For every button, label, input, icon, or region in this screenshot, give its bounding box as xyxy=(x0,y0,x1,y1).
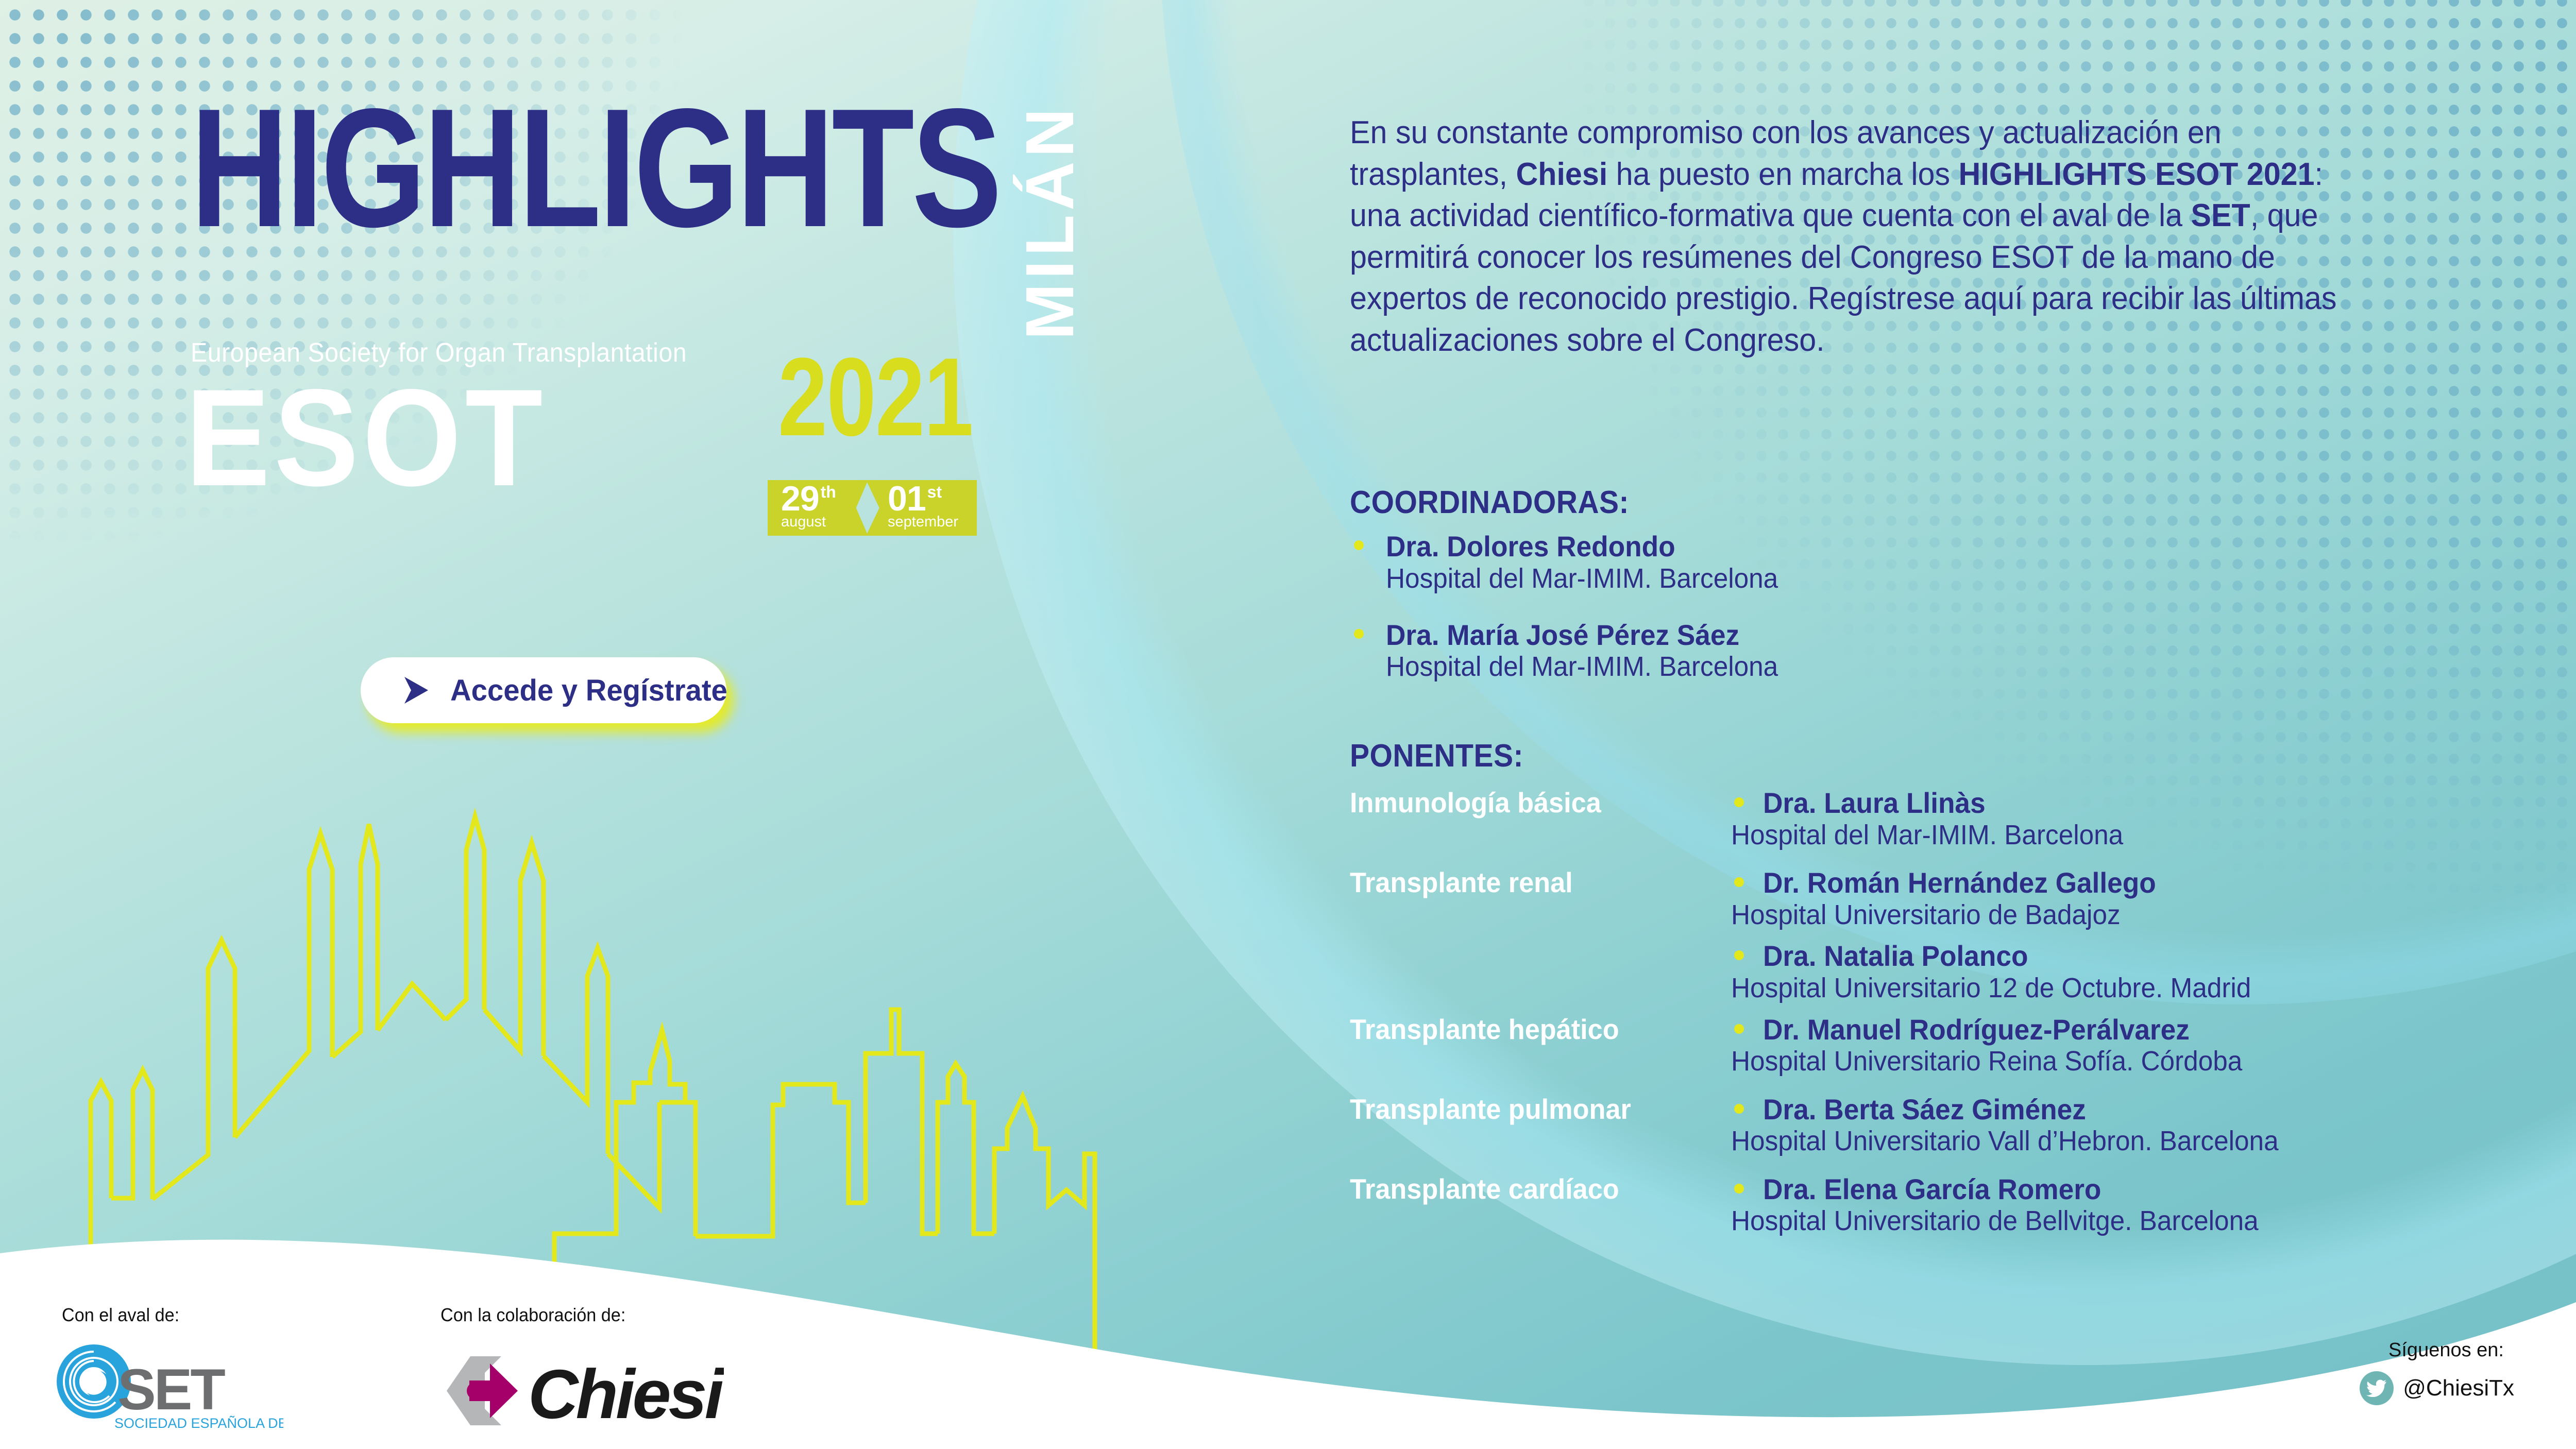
intro-segment-1: Chiesi xyxy=(1516,157,1608,192)
speaker-name: Dra. Elena García Romero xyxy=(1763,1173,2511,1206)
collaboration-label: Con la colaboración de: xyxy=(440,1304,625,1326)
speaker-topic: Inmunología básica xyxy=(1350,787,1712,819)
twitter-bird-icon xyxy=(2360,1371,2394,1405)
follow-label: Síguenos en: xyxy=(2388,1339,2504,1361)
speaker-row: Transplante hepáticoDr. Manuel Rodríguez… xyxy=(1350,1014,2550,1094)
speaker-name: Dra. Natalia Polanco xyxy=(1763,940,2511,973)
start-month: august xyxy=(781,515,848,530)
speaker-topic: Transplante cardíaco xyxy=(1350,1173,1712,1205)
intro-segment-2: ha puesto en marcha los xyxy=(1607,157,1958,192)
poster-canvas: HIGHLIGHTS European Society for Organ Tr… xyxy=(0,0,2576,1449)
set-logo: SET SOCIEDAD ESPAÑOLA DE TRASPLANTE xyxy=(52,1344,283,1435)
intro-segment-5: SET xyxy=(2191,198,2250,233)
event-year: 2021 xyxy=(778,341,973,452)
register-button-label: Accede y Regístrate xyxy=(450,673,727,708)
start-day: 29 xyxy=(781,484,819,514)
speaker-row: Inmunología básicaDra. Laura LlinàsHospi… xyxy=(1350,787,2550,867)
speaker-people: Dra. Berta Sáez GiménezHospital Universi… xyxy=(1731,1094,2550,1157)
speaker-org: Hospital Universitario de Badajoz xyxy=(1731,899,2510,931)
event-date-range: 29 th august 01 st september xyxy=(768,480,977,536)
bullet-dot-icon xyxy=(1734,877,1744,887)
speaker-people: Dr. Román Hernández GallegoHospital Univ… xyxy=(1731,867,2550,1004)
event-city: MILÁN xyxy=(1011,104,1089,340)
esot-acronym: ESOT xyxy=(185,381,547,495)
bullet-dot-icon xyxy=(1734,797,1744,807)
end-day: 01 xyxy=(888,484,926,514)
speaker-name: Dra. Laura Llinàs xyxy=(1763,787,2511,820)
speaker-row: Transplante renalDr. Román Hernández Gal… xyxy=(1350,867,2550,1004)
speaker-person: Dra. Natalia PolancoHospital Universitar… xyxy=(1731,940,2550,1004)
speaker-person: Dr. Manuel Rodríguez-PerálvarezHospital … xyxy=(1731,1014,2550,1078)
speaker-org: Hospital del Mar-IMIM. Barcelona xyxy=(1731,820,2510,851)
set-wordmark: SET xyxy=(117,1357,225,1422)
speaker-person: Dra. Elena García RomeroHospital Univers… xyxy=(1731,1173,2550,1237)
twitter-handle: @ChiesiTx xyxy=(2403,1375,2514,1401)
speaker-people: Dra. Elena García RomeroHospital Univers… xyxy=(1731,1173,2550,1237)
speaker-name: Dr. Román Hernández Gallego xyxy=(1763,867,2511,899)
coordinator-item: Dra. Dolores RedondoHospital del Mar-IMI… xyxy=(1350,531,2226,594)
speaker-topic: Transplante hepático xyxy=(1350,1014,1712,1045)
speakers-table: Inmunología básicaDra. Laura LlinàsHospi… xyxy=(1350,787,2550,1253)
coordinator-item: Dra. María José Pérez SáezHospital del M… xyxy=(1350,619,2226,683)
endorsement-label: Con el aval de: xyxy=(62,1304,179,1326)
speaker-person: Dra. Berta Sáez GiménezHospital Universi… xyxy=(1731,1094,2550,1157)
bullet-dot-icon xyxy=(1734,950,1744,960)
coordinator-name: Dra. María José Pérez Sáez xyxy=(1386,619,2184,651)
bullet-dot-icon xyxy=(1734,1024,1744,1034)
set-tagline: SOCIEDAD ESPAÑOLA DE TRASPLANTE xyxy=(114,1415,283,1431)
date-chip-end: 01 st september xyxy=(866,480,977,536)
intro-segment-3: HIGHLIGHTS ESOT 2021 xyxy=(1959,157,2315,192)
speaker-person: Dra. Laura LlinàsHospital del Mar-IMIM. … xyxy=(1731,787,2550,851)
bullet-dot-icon xyxy=(1354,540,1364,550)
speaker-org: Hospital Universitario Reina Sofía. Córd… xyxy=(1731,1046,2510,1078)
speaker-row: Transplante pulmonarDra. Berta Sáez Gimé… xyxy=(1350,1094,2550,1173)
speaker-people: Dr. Manuel Rodríguez-PerálvarezHospital … xyxy=(1731,1014,2550,1078)
date-chip-start: 29 th august xyxy=(768,480,868,536)
speaker-person: Dr. Román Hernández GallegoHospital Univ… xyxy=(1731,867,2550,931)
chiesi-logo: Chiesi xyxy=(435,1352,724,1429)
page-title: HIGHLIGHTS xyxy=(191,95,999,241)
bullet-dot-icon xyxy=(1354,629,1364,639)
bullet-dot-icon xyxy=(1734,1184,1744,1194)
speaker-org: Hospital Universitario Vall d’Hebron. Ba… xyxy=(1731,1126,2510,1157)
speaker-name: Dr. Manuel Rodríguez-Perálvarez xyxy=(1763,1014,2511,1046)
speaker-org: Hospital Universitario de Bellvitge. Bar… xyxy=(1731,1205,2510,1237)
chiesi-hexagon-icon xyxy=(447,1356,518,1425)
play-arrow-icon xyxy=(403,675,430,705)
coordinator-name: Dra. Dolores Redondo xyxy=(1386,531,2184,562)
speaker-name: Dra. Berta Sáez Giménez xyxy=(1763,1094,2511,1126)
end-month: september xyxy=(888,515,963,530)
coordinator-org: Hospital del Mar-IMIM. Barcelona xyxy=(1386,651,2184,683)
coordinators-list: Dra. Dolores RedondoHospital del Mar-IMI… xyxy=(1350,531,2226,707)
speakers-heading: PONENTES: xyxy=(1350,738,1523,774)
speaker-topic: Transplante renal xyxy=(1350,867,1712,898)
register-button[interactable]: Accede y Regístrate xyxy=(361,657,726,723)
speaker-org: Hospital Universitario 12 de Octubre. Ma… xyxy=(1731,973,2510,1004)
start-day-ordinal: th xyxy=(821,485,836,499)
speaker-row: Transplante cardíacoDra. Elena García Ro… xyxy=(1350,1173,2550,1253)
end-day-ordinal: st xyxy=(927,485,942,499)
chiesi-wordmark: Chiesi xyxy=(528,1355,724,1429)
speaker-people: Dra. Laura LlinàsHospital del Mar-IMIM. … xyxy=(1731,787,2550,851)
speaker-topic: Transplante pulmonar xyxy=(1350,1094,1712,1125)
bullet-dot-icon xyxy=(1734,1104,1744,1114)
coordinators-heading: COORDINADORAS: xyxy=(1350,484,1629,521)
twitter-link[interactable]: @ChiesiTx xyxy=(2360,1371,2514,1405)
coordinator-org: Hospital del Mar-IMIM. Barcelona xyxy=(1386,562,2184,594)
register-cta-wrapper: Accede y Regístrate xyxy=(361,657,726,723)
intro-paragraph: En su constante compromiso con los avanc… xyxy=(1350,112,2373,362)
